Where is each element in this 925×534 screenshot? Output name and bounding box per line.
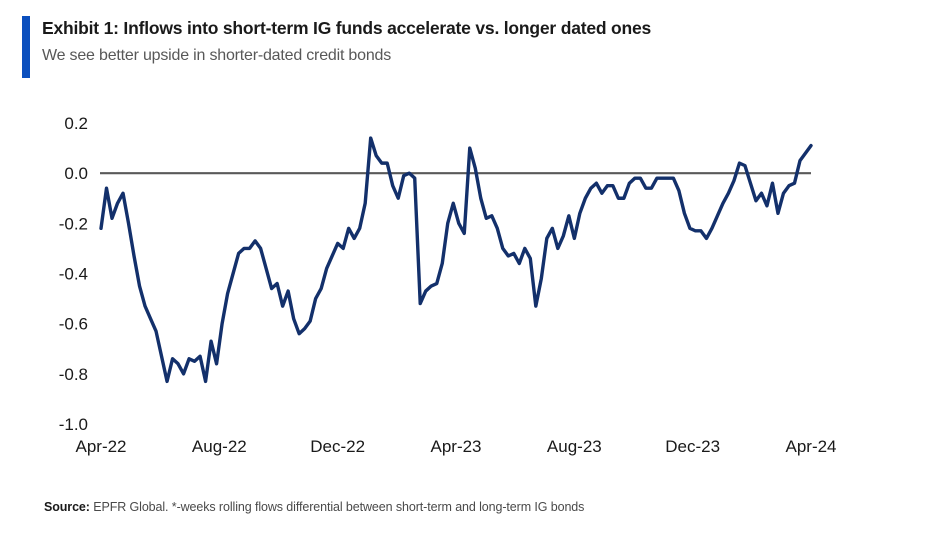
y-axis-tick-label: -0.4 (59, 265, 88, 284)
source-text: EPFR Global. *-weeks rolling flows diffe… (90, 500, 584, 514)
y-axis-tick-label: 0.2 (64, 114, 88, 133)
data-series-line (101, 138, 811, 381)
y-axis-tick-label: -0.2 (59, 214, 88, 233)
source-note: Source: EPFR Global. *-weeks rolling flo… (44, 500, 904, 514)
chart-page: Exhibit 1: Inflows into short-term IG fu… (0, 0, 925, 534)
chart-container: 0.20.0-0.2-0.4-0.6-0.8-1.0 Apr-22Aug-22D… (0, 96, 925, 466)
accent-bar (22, 16, 30, 78)
x-axis-tick-label: Apr-24 (785, 437, 836, 456)
page-title: Exhibit 1: Inflows into short-term IG fu… (42, 18, 651, 39)
y-axis-ticks: 0.20.0-0.2-0.4-0.6-0.8-1.0 (59, 114, 88, 434)
x-axis-tick-label: Aug-23 (547, 437, 602, 456)
x-axis-tick-label: Aug-22 (192, 437, 247, 456)
x-axis-ticks: Apr-22Aug-22Dec-22Apr-23Aug-23Dec-23Apr-… (75, 437, 836, 456)
source-label: Source: (44, 500, 90, 514)
y-axis-tick-label: -0.8 (59, 365, 88, 384)
chart-header: Exhibit 1: Inflows into short-term IG fu… (22, 16, 902, 80)
x-axis-tick-label: Dec-23 (665, 437, 720, 456)
x-axis-tick-label: Apr-22 (75, 437, 126, 456)
y-axis-tick-label: 0.0 (64, 164, 88, 183)
y-axis-tick-label: -1.0 (59, 415, 88, 434)
page-subtitle: We see better upside in shorter-dated cr… (42, 47, 391, 65)
x-axis-tick-label: Dec-22 (310, 437, 365, 456)
x-axis-tick-label: Apr-23 (430, 437, 481, 456)
y-axis-tick-label: -0.6 (59, 315, 88, 334)
line-chart: 0.20.0-0.2-0.4-0.6-0.8-1.0 Apr-22Aug-22D… (0, 96, 925, 466)
